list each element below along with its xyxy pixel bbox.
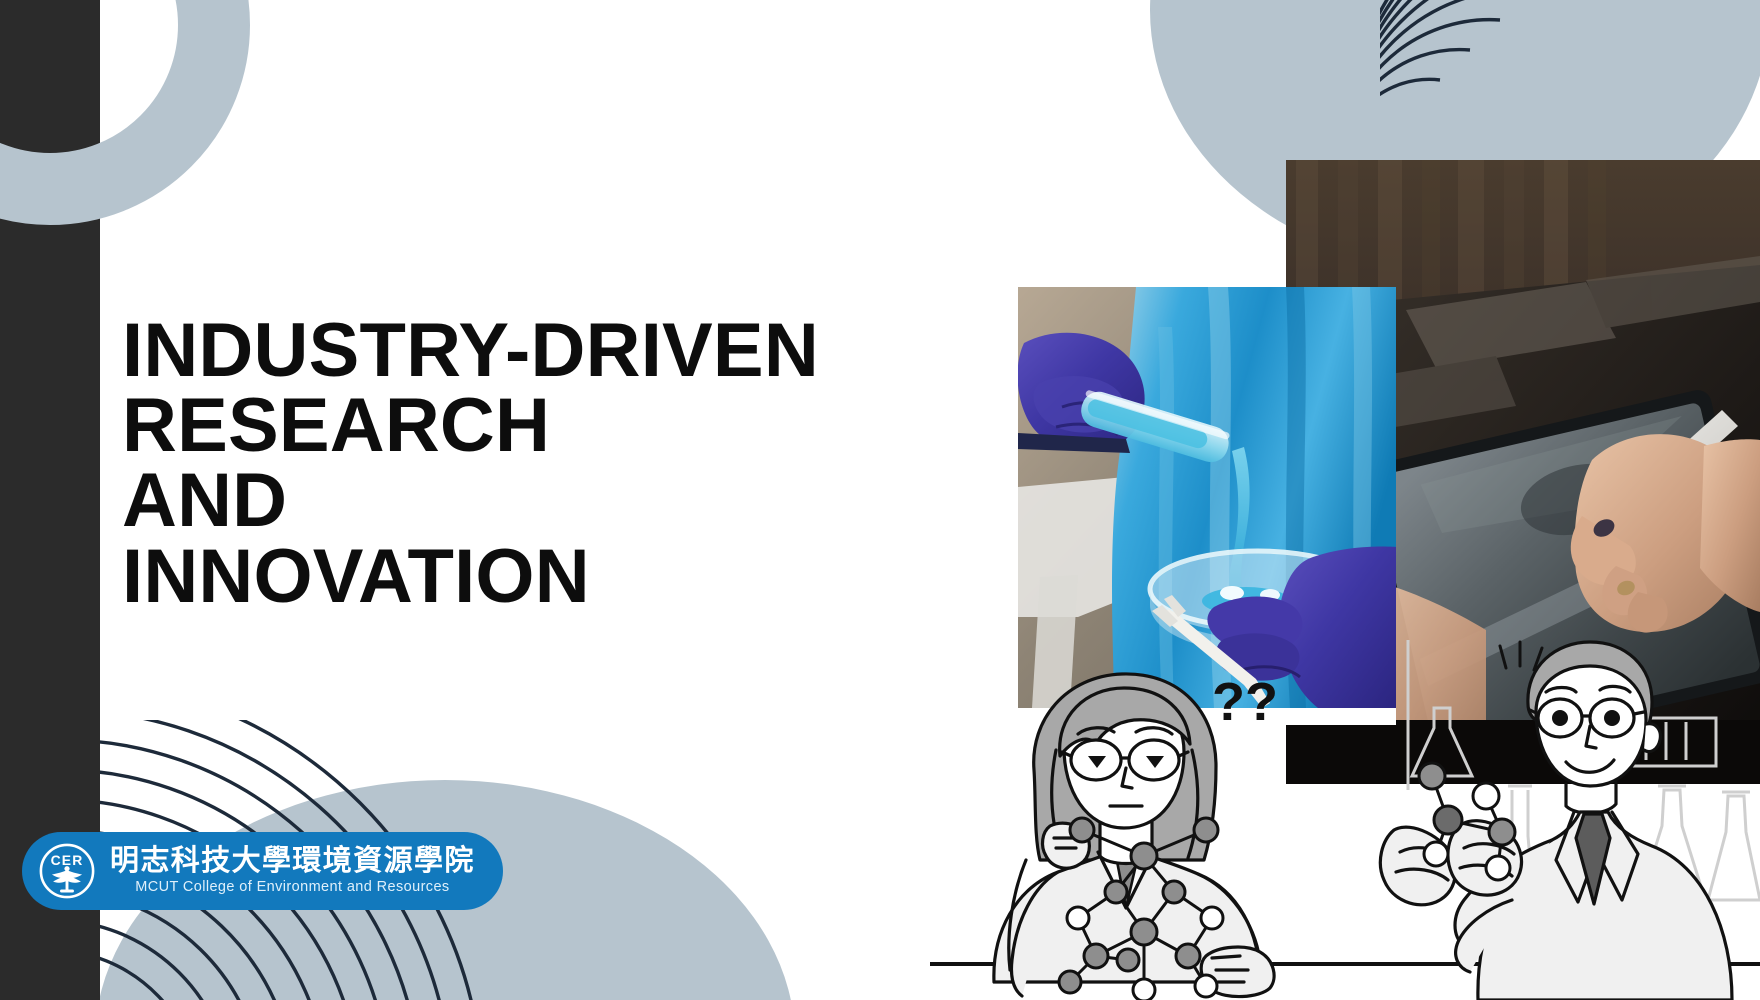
- logo-name-english: MCUT College of Environment and Resource…: [110, 878, 475, 897]
- top-left-gray-ring: [0, 0, 250, 225]
- cer-plant-emblem-icon: CER: [38, 842, 96, 900]
- lab-pouring-photo: [1018, 287, 1396, 708]
- logo-text-block: 明志科技大學環境資源學院 MCUT College of Environment…: [110, 845, 475, 897]
- title-line-2: RESEARCH: [122, 388, 819, 463]
- title-line-4: INNOVATION: [122, 539, 819, 614]
- title-line-1: INDUSTRY-DRIVEN: [122, 313, 819, 388]
- presentation-slide: ??: [0, 0, 1760, 1000]
- title-line-3: AND: [122, 463, 819, 538]
- question-mark-annotation: ??: [1212, 672, 1278, 732]
- male-scientist-illustration: [1360, 600, 1760, 1000]
- college-logo-badge[interactable]: CER 明志科技大學環境資源學院 MCUT College of Environ…: [22, 832, 503, 910]
- svg-text:CER: CER: [51, 852, 84, 868]
- top-right-concentric-arcs-icon: [1380, 0, 1760, 180]
- female-scientist-illustration: ??: [930, 660, 1350, 1000]
- page-title: INDUSTRY-DRIVEN RESEARCH AND INNOVATION: [122, 313, 819, 614]
- logo-name-chinese: 明志科技大學環境資源學院: [110, 845, 475, 876]
